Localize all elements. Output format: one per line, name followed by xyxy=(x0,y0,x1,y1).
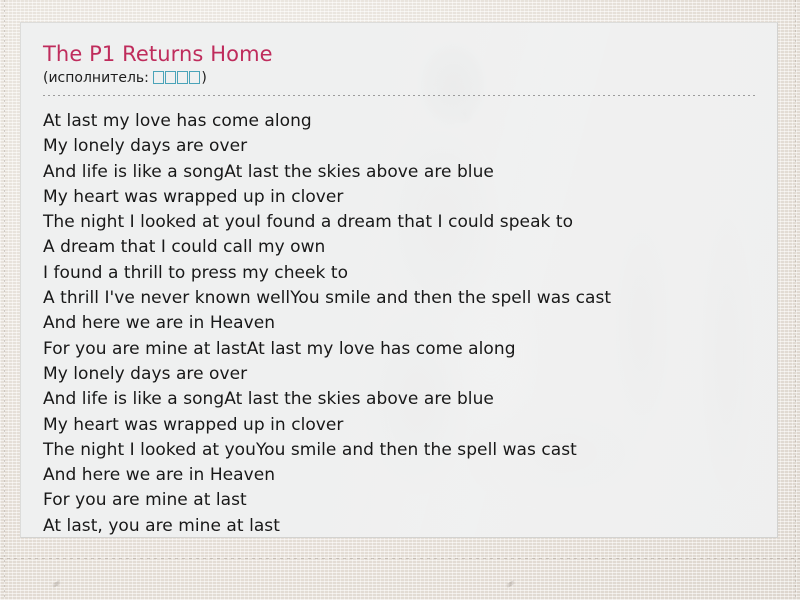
lyric-line: And here we are in Heaven xyxy=(43,463,755,488)
artist-label-close: ) xyxy=(201,70,206,86)
artist-link[interactable] xyxy=(153,70,201,86)
title-separator xyxy=(43,95,755,96)
page-margin-rule-left xyxy=(4,0,5,600)
lyric-line: My heart was wrapped up in clover xyxy=(43,185,755,210)
lyric-line: And life is like a songAt last the skies… xyxy=(43,160,755,185)
lyric-line: The night I looked at youYou smile and t… xyxy=(43,438,755,463)
page-title: The P1 Returns Home xyxy=(43,41,755,67)
lyric-line: At last my love has come along xyxy=(43,109,755,134)
lyric-line: My heart was wrapped up in clover xyxy=(43,413,755,438)
missing-glyph-box xyxy=(165,71,176,84)
missing-glyph-box xyxy=(153,71,164,84)
lyric-line: And life is like a songAt last the skies… xyxy=(43,387,755,412)
lyric-line: A dream that I could call my own xyxy=(43,235,755,260)
page-margin-rule-right xyxy=(795,0,796,600)
lyric-line: And here we are in Heaven xyxy=(43,311,755,336)
missing-glyph-box xyxy=(177,71,188,84)
lyric-line: My lonely days are over xyxy=(43,362,755,387)
lyric-line: For you are mine at lastAt last my love … xyxy=(43,337,755,362)
lyrics-body: At last my love has come along My lonely… xyxy=(43,109,755,538)
artist-label-open: (исполнитель: xyxy=(43,70,153,86)
missing-glyph-box xyxy=(189,71,200,84)
lyric-line: My lonely days are over xyxy=(43,134,755,159)
artist-line: (исполнитель: ) xyxy=(43,69,755,88)
page-margin-rule-bottom xyxy=(0,558,800,559)
card-content: The P1 Returns Home (исполнитель: ) At l… xyxy=(21,23,777,537)
lyrics-card: The P1 Returns Home (исполнитель: ) At l… xyxy=(20,22,778,538)
lyric-line: A thrill I've never known wellYou smile … xyxy=(43,286,755,311)
lyric-line: At last, you are mine at last xyxy=(43,514,755,538)
lyric-line: For you are mine at last xyxy=(43,488,755,513)
lyric-line: I found a thrill to press my cheek to xyxy=(43,261,755,286)
lyric-line: The night I looked at youI found a dream… xyxy=(43,210,755,235)
